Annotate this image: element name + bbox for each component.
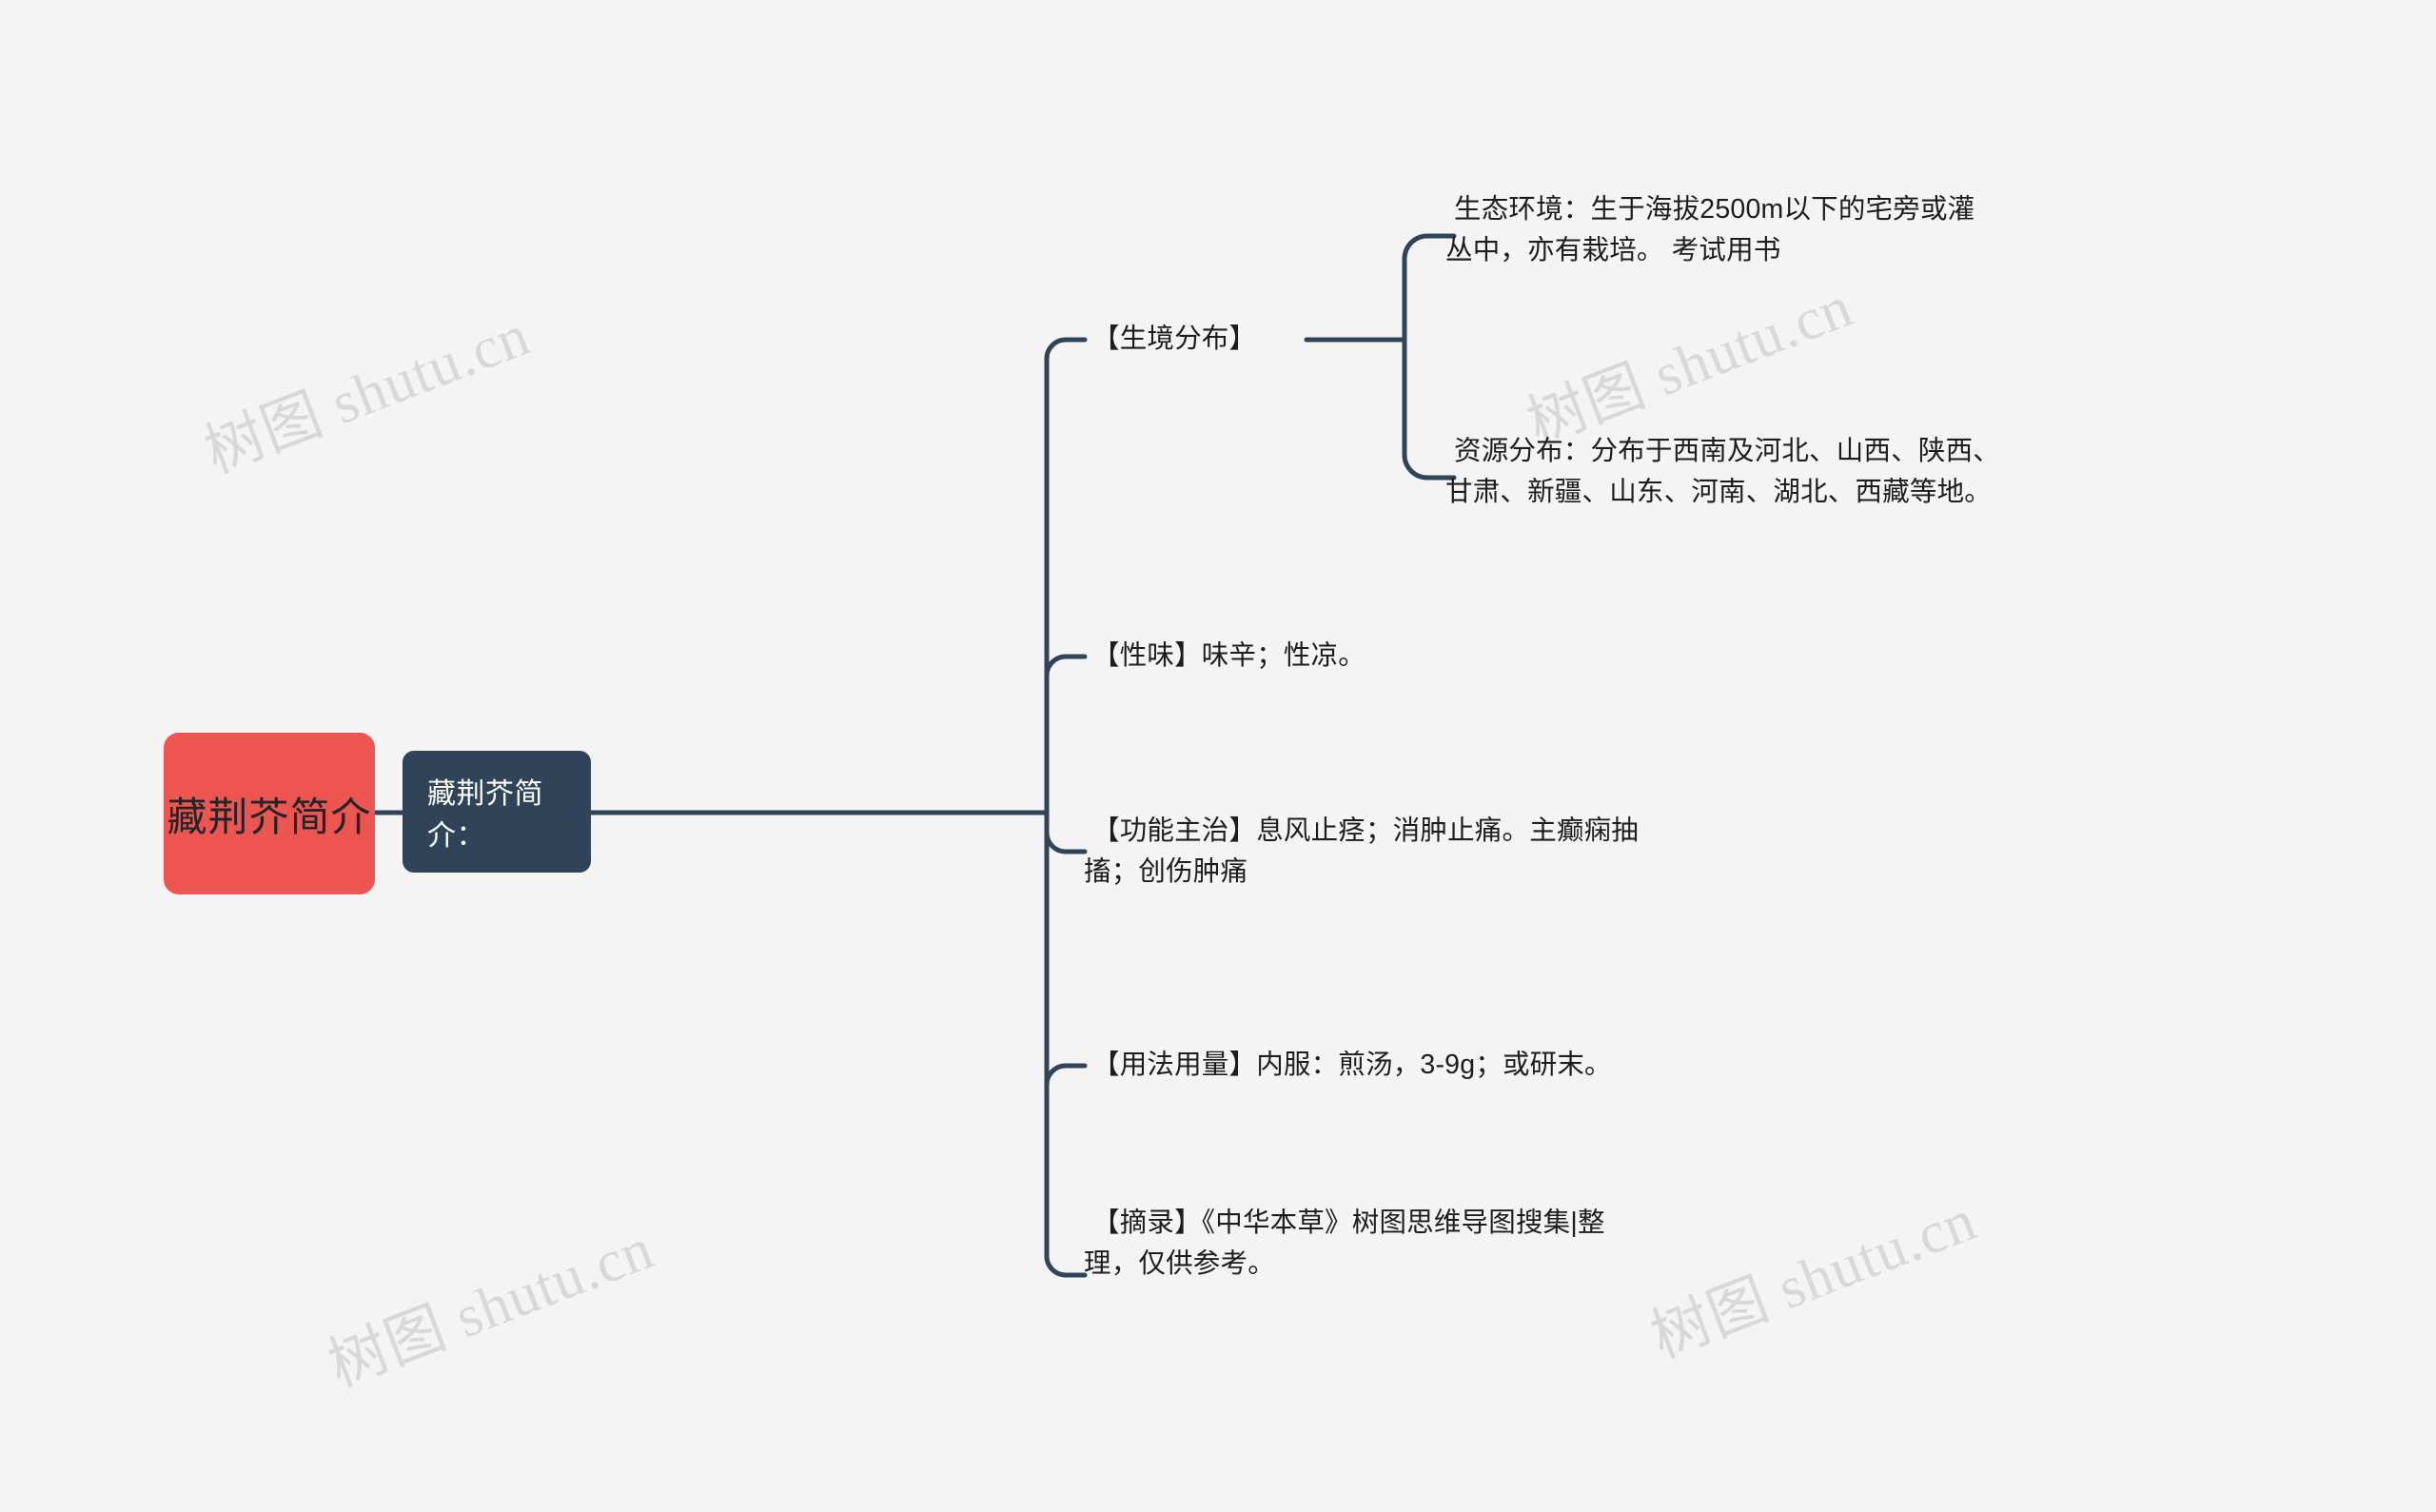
subtopic-line-1: 资源分布：分布于西南及河北、山西、陕西、 <box>1454 436 2000 466</box>
topic-excerpt[interactable]: 【摘录】《中华本草》树图思维导图搜集|整 理，仅供参考。 <box>1092 1203 1911 1286</box>
root-node-label: 藏荆芥简介 <box>167 785 371 843</box>
subtopic-line-1: 生态环境：生于海拔2500m以下的宅旁或灌 <box>1454 194 1974 225</box>
mindmap-canvas: 藏荆芥简介 藏荆芥简介： 【生境分布】 生态环境：生于海拔2500m以下的宅旁或… <box>0 0 2436 1512</box>
subtopic-resource-distribution[interactable]: 资源分布：分布于西南及河北、山西、陕西、 甘肃、新疆、山东、河南、湖北、西藏等地… <box>1454 431 2320 514</box>
topic-label: 【性味】味辛；性凉。 <box>1092 640 1365 671</box>
subtopic-line-2: 甘肃、新疆、山东、河南、湖北、西藏等地。 <box>1454 472 2320 513</box>
topic-label: 【生境分布】 <box>1092 324 1256 354</box>
subtopic-ecological-environment[interactable]: 生态环境：生于海拔2500m以下的宅旁或灌 丛中，亦有栽培。 考试用书 <box>1454 189 2291 272</box>
topic-line-1: 【摘录】《中华本草》树图思维导图搜集|整 <box>1092 1208 1605 1238</box>
topic-line-1: 【功能主治】息风止痉；消肿止痛。主癫痫抽 <box>1092 815 1639 846</box>
topic-usage-dosage[interactable]: 【用法用量】内服：煎汤，3-9g；或研末。 <box>1092 1045 1612 1086</box>
connector-spine <box>1047 340 1085 1275</box>
topic-function-indication[interactable]: 【功能主治】息风止痉；消肿止痛。主癫痫抽 搐；创伤肿痛 <box>1092 811 1911 893</box>
connector-branch-usage <box>1047 1066 1085 1085</box>
topic-line-2: 搐；创伤肿痛 <box>1092 852 1911 893</box>
level2-node-label: 藏荆芥简介： <box>427 770 591 854</box>
connector-branch-nature-flavor <box>1047 657 1085 676</box>
topic-line-2: 理，仅供参考。 <box>1092 1244 1911 1285</box>
subtopic-line-2: 丛中，亦有栽培。 考试用书 <box>1454 230 2291 271</box>
root-node[interactable]: 藏荆芥简介 <box>164 733 375 894</box>
connector-branch-function <box>1047 833 1085 852</box>
connector-substem <box>1405 236 1454 478</box>
level2-node[interactable]: 藏荆芥简介： <box>403 751 591 873</box>
topic-nature-flavor[interactable]: 【性味】味辛；性凉。 <box>1092 636 1365 677</box>
topic-habitat-distribution[interactable]: 【生境分布】 <box>1092 319 1256 360</box>
topic-label: 【用法用量】内服：煎汤，3-9g；或研末。 <box>1092 1050 1612 1080</box>
